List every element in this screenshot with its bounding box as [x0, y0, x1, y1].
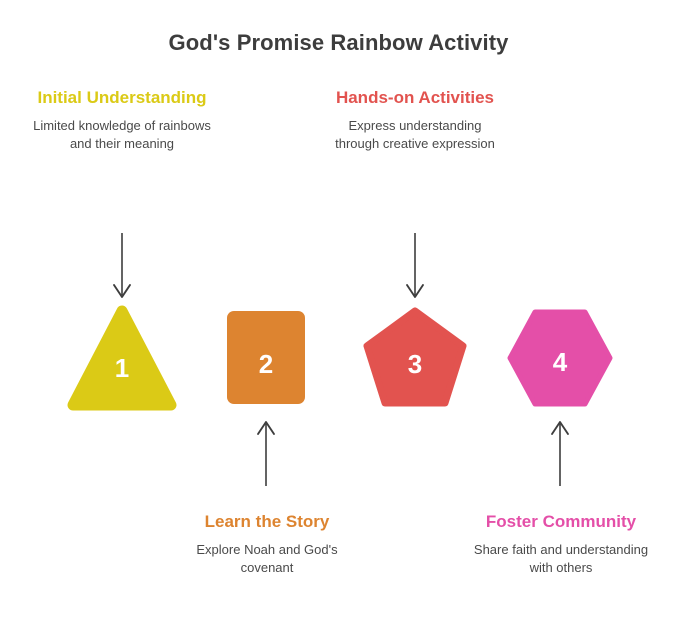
step-2-heading: Learn the Story	[175, 510, 359, 533]
step-4-number: 4	[505, 347, 615, 378]
step-3-shape-pentagon: 3	[360, 305, 470, 415]
up-arrow-icon-step-4	[545, 418, 575, 486]
step-4-description: Share faith and understanding with other…	[470, 541, 652, 577]
step-1-description: Limited knowledge of rainbows and their …	[32, 117, 212, 153]
step-3-number: 3	[360, 349, 470, 380]
down-arrow-icon-step-3	[400, 233, 430, 301]
step-2-text-block: Learn the Story Explore Noah and God's c…	[175, 510, 359, 577]
up-arrow-icon-step-2	[251, 418, 281, 486]
step-1-heading: Initial Understanding	[32, 86, 212, 109]
step-1-shape-triangle: 1	[67, 305, 177, 415]
step-3-description: Express understanding through creative e…	[325, 117, 505, 153]
step-4-shape-hexagon: 4	[505, 308, 615, 418]
step-2-number: 2	[211, 349, 321, 380]
step-1-number: 1	[67, 353, 177, 384]
down-arrow-icon-step-1	[107, 233, 137, 301]
step-3-heading: Hands-on Activities	[325, 86, 505, 109]
step-3-text-block: Hands-on Activities Express understandin…	[325, 86, 505, 153]
page-title: God's Promise Rainbow Activity	[0, 30, 677, 56]
step-4-text-block: Foster Community Share faith and underst…	[470, 510, 652, 577]
step-2-shape-square: 2	[211, 308, 321, 418]
step-1-text-block: Initial Understanding Limited knowledge …	[32, 86, 212, 153]
step-2-description: Explore Noah and God's covenant	[175, 541, 359, 577]
step-4-heading: Foster Community	[470, 510, 652, 533]
infographic-canvas: God's Promise Rainbow Activity Initial U…	[0, 0, 677, 635]
